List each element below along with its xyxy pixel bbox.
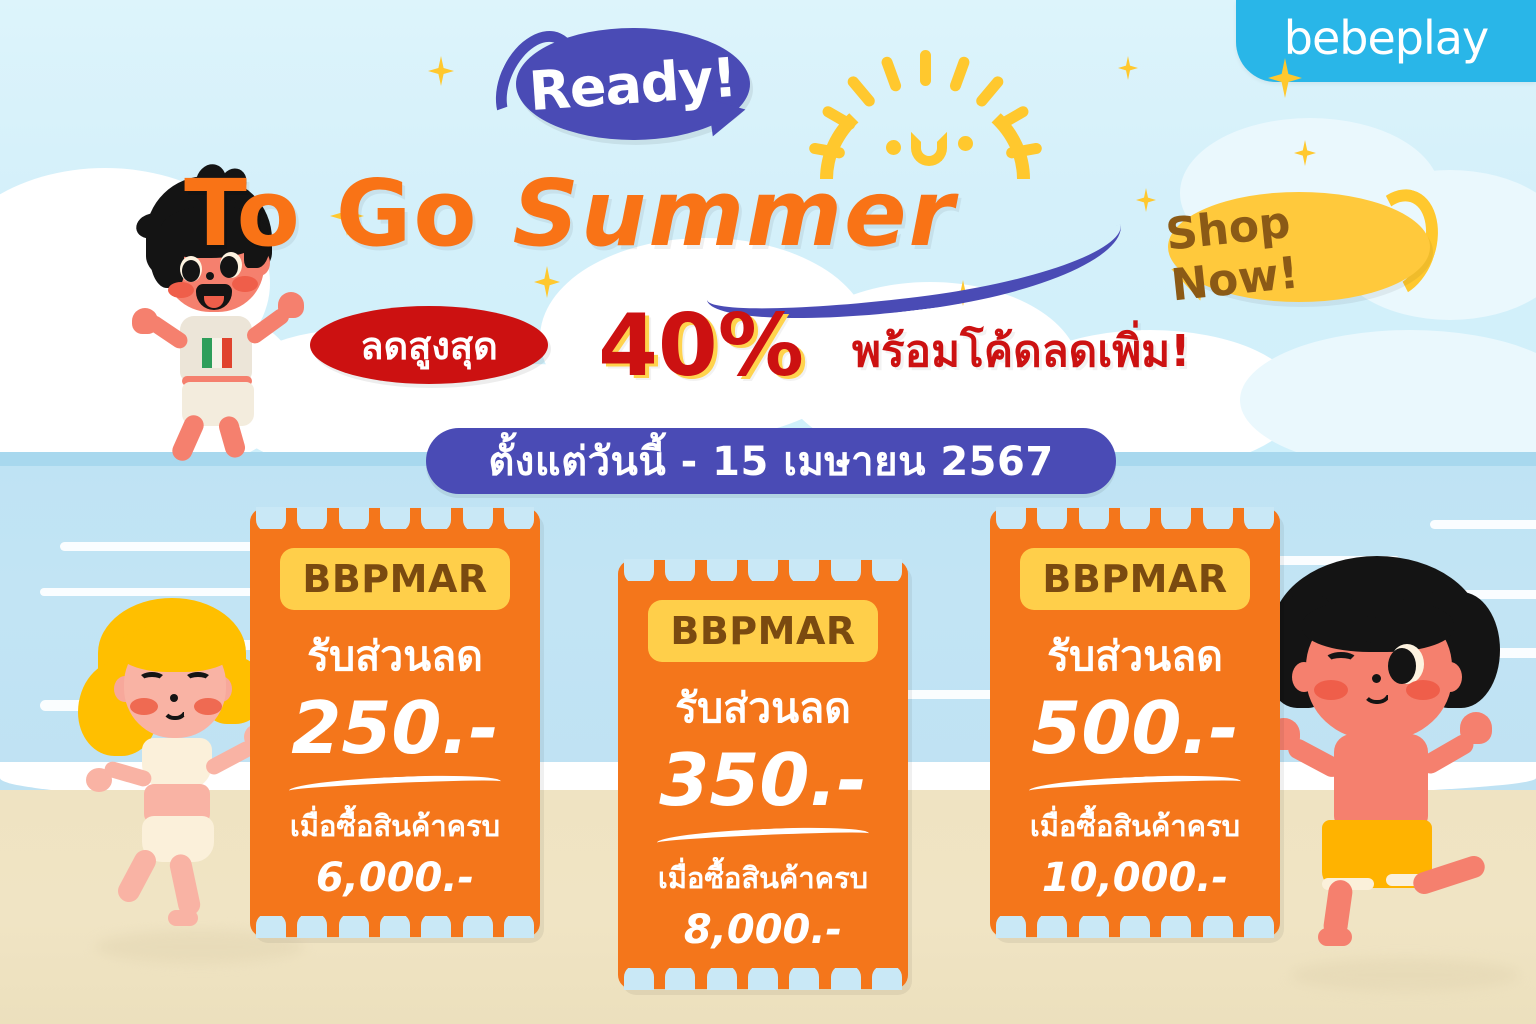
coupon-notch [504, 916, 534, 938]
coupon-notch-row-bottom [250, 916, 540, 938]
coupon-notch [421, 916, 451, 938]
girl-foot [168, 910, 198, 926]
max-discount-pill: ลดสูงสุด [310, 306, 548, 384]
coupon-notch [463, 507, 493, 529]
coupon-notch [256, 916, 286, 938]
coupon-notch [665, 968, 695, 990]
boy2-nose [1372, 674, 1381, 683]
girl-nose [170, 694, 178, 702]
boy-shirt-flag [222, 338, 232, 368]
girl-top [142, 738, 212, 790]
coupon-notch [1079, 507, 1109, 529]
coupon-notch [831, 968, 861, 990]
coupon-divider [289, 772, 502, 799]
girl-leg [114, 846, 160, 906]
coupon-code[interactable]: BBPMAR [280, 548, 509, 610]
boy-hand [132, 308, 158, 334]
coupon-notch [1161, 916, 1191, 938]
brand-logo[interactable]: bebeplay [1236, 0, 1536, 82]
boy2-eye-pupil [1388, 648, 1416, 684]
coupon-amount: 250.- [291, 691, 499, 767]
coupon-min-spend: 6,000.- [316, 855, 474, 901]
coupon-notch [504, 507, 534, 529]
coupon-discount-label: รับส่วนลด [675, 676, 851, 741]
coupon-notch [380, 507, 410, 529]
coupon-notch-row-bottom [618, 968, 908, 990]
coupon-card[interactable]: BBPMAR รับส่วนลด 350.- เมื่อซื้อสินค้าคร… [618, 560, 908, 989]
coupon-notch-row-top [618, 559, 908, 581]
coupon-notch [707, 968, 737, 990]
ready-badge[interactable]: Ready! [516, 28, 750, 140]
coupon-divider [657, 824, 870, 851]
extra-code-text: พร้อมโค้ดลดเพิ่ม! [852, 316, 1190, 386]
coupon-notch [421, 507, 451, 529]
coupon-notch [1244, 507, 1274, 529]
coupon-notch [748, 559, 778, 581]
character-running-boy [1262, 556, 1512, 946]
coupon-notch [256, 507, 286, 529]
ready-bubble: Ready! [516, 28, 750, 140]
coupon-notch-row-bottom [990, 916, 1280, 938]
coupon-card[interactable]: BBPMAR รับส่วนลด 250.- เมื่อซื้อสินค้าคร… [250, 508, 540, 937]
coupon-notch [463, 916, 493, 938]
boy-shirt-flag [202, 338, 212, 368]
coupon-notch [624, 559, 654, 581]
coupon-amount: 350.- [659, 743, 867, 819]
coupon-notch [1037, 507, 1067, 529]
brand-logo-text: bebeplay [1284, 11, 1488, 65]
coupon-condition-label: เมื่อซื้อสินค้าครบ [290, 803, 500, 849]
coupon-notch [1079, 916, 1109, 938]
girl-eye-closed [138, 672, 166, 688]
coupon-notch [789, 559, 819, 581]
coupon-notch [1203, 507, 1233, 529]
coupon-notch [1120, 507, 1150, 529]
girl-bangs [118, 624, 234, 672]
coupon-condition-label: เมื่อซื้อสินค้าครบ [658, 855, 868, 901]
boy2-foot [1318, 928, 1352, 946]
coupon-notch [1037, 916, 1067, 938]
discount-percent: 40% [566, 296, 836, 396]
coupon-notch [624, 968, 654, 990]
wave-line [1430, 520, 1536, 529]
promo-date-range-text: ตั้งแต่วันนี้ - 15 เมษายน 2567 [488, 429, 1053, 493]
coupon-notch [831, 559, 861, 581]
smiling-sun-icon [800, 52, 1050, 172]
coupon-notch [339, 507, 369, 529]
coupon-notch [339, 916, 369, 938]
coupon-notch [707, 559, 737, 581]
girl-cheek [194, 698, 222, 715]
coupon-notch-row-top [990, 507, 1280, 529]
girl-cheek [130, 698, 158, 715]
ready-label: Ready! [527, 45, 738, 122]
coupon-discount-label: รับส่วนลด [307, 624, 483, 689]
coupon-notch [996, 916, 1026, 938]
coupon-discount-label: รับส่วนลด [1047, 624, 1223, 689]
coupon-notch [297, 916, 327, 938]
coupon-min-spend: 8,000.- [684, 907, 842, 953]
max-discount-label: ลดสูงสุด [360, 315, 498, 376]
coupon-notch [1120, 916, 1150, 938]
shop-now-bubble: Shop Now! [1168, 192, 1430, 302]
boy2-cheek [1314, 680, 1348, 700]
promo-banner: bebeplay Ready! To Go Summer [0, 0, 1536, 1024]
coupon-notch [789, 968, 819, 990]
coupon-condition-label: เมื่อซื้อสินค้าครบ [1030, 803, 1240, 849]
shop-now-badge[interactable]: Shop Now! [1168, 192, 1430, 302]
coupon-notch [872, 559, 902, 581]
coupon-code[interactable]: BBPMAR [1020, 548, 1249, 610]
promo-date-range: ตั้งแต่วันนี้ - 15 เมษายน 2567 [426, 428, 1116, 494]
coupon-notch [872, 968, 902, 990]
coupon-notch [1161, 507, 1191, 529]
sand-shadow [1290, 958, 1520, 992]
boy-cheek [232, 276, 258, 292]
coupon-amount: 500.- [1031, 691, 1239, 767]
coupon-divider [1029, 772, 1242, 799]
girl-leg [168, 852, 202, 917]
girl-hand [86, 768, 112, 792]
girl-eye-closed [184, 672, 212, 688]
coupon-notch [748, 968, 778, 990]
sun-ray [948, 55, 971, 93]
sun-eye [958, 136, 973, 151]
coupon-card[interactable]: BBPMAR รับส่วนลด 500.- เมื่อซื้อสินค้าคร… [990, 508, 1280, 937]
boy-shirt-flag [212, 338, 222, 368]
boy-nose [206, 272, 214, 280]
wave-line [40, 588, 270, 596]
boy2-eye-wink [1324, 652, 1358, 670]
coupon-notch [1203, 916, 1233, 938]
boy2-hand [1460, 712, 1492, 744]
coupon-notch-row-top [250, 507, 540, 529]
boy-cheek [168, 282, 194, 298]
coupon-notch [380, 916, 410, 938]
coupon-min-spend: 10,000.- [1042, 855, 1228, 901]
sun-ray [880, 55, 903, 93]
coupon-notch [996, 507, 1026, 529]
coupon-notch [665, 559, 695, 581]
headline-part-1: To Go [184, 160, 513, 267]
coupon-notch [297, 507, 327, 529]
coupon-notch [1244, 916, 1274, 938]
boy2-cheek [1406, 680, 1440, 700]
headline-part-2: Summer [513, 160, 956, 267]
sun-eye [886, 140, 901, 155]
boy2-torso [1334, 734, 1428, 830]
boy-hand [278, 292, 304, 318]
coupon-code[interactable]: BBPMAR [648, 600, 877, 662]
sun-ray [920, 50, 931, 86]
